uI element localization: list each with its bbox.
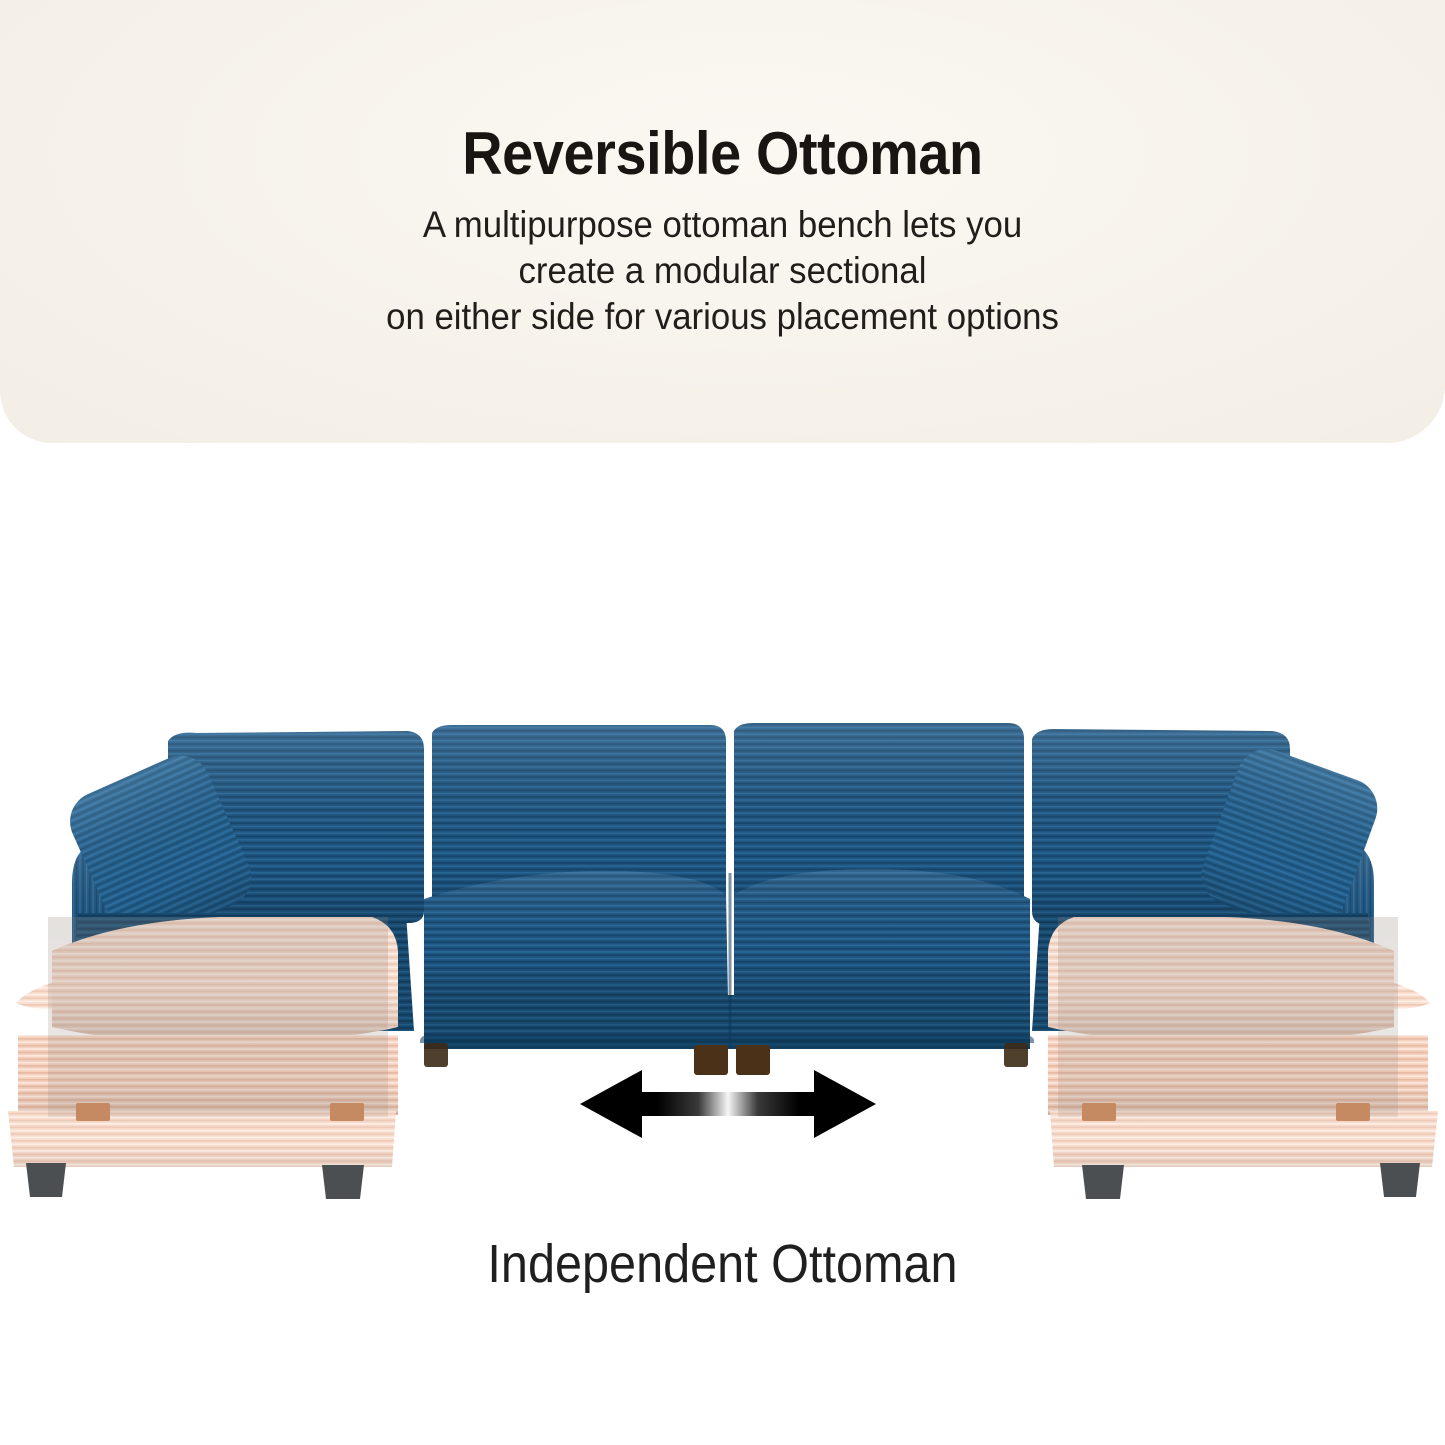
- page-title: Reversible Ottoman: [51, 124, 1395, 184]
- product-caption: Independent Ottoman: [72, 1235, 1373, 1294]
- subtitle-line-2: create a modular sectional: [43, 248, 1401, 294]
- left-ottoman: [8, 917, 398, 1199]
- left-ottoman-wood-trim-1: [76, 1103, 110, 1121]
- left-ottoman-wood-trim-2: [330, 1103, 364, 1121]
- right-ottoman-wood-trim-2: [1336, 1103, 1370, 1121]
- header-panel: Reversible Ottoman A multipurpose ottoma…: [0, 0, 1445, 443]
- right-ottoman: [1048, 917, 1438, 1199]
- sofa-seat-cushions: [424, 869, 1030, 1015]
- right-ottoman-wood-trim-1: [1082, 1103, 1116, 1121]
- left-ottoman-foot-2: [322, 1165, 364, 1199]
- sofa-leg-outer-left: [424, 1043, 448, 1067]
- right-ottoman-foot-1: [1082, 1165, 1124, 1199]
- right-ottoman-foot-2: [1380, 1163, 1420, 1197]
- reversible-direction-arrow-icon: [580, 1066, 876, 1142]
- right-ottoman-overlap-veil: [1058, 917, 1398, 1117]
- sofa-leg-outer-right: [1004, 1043, 1028, 1067]
- subtitle-line-3: on either side for various placement opt…: [43, 294, 1401, 340]
- left-ottoman-overlap-veil: [48, 917, 388, 1117]
- subtitle-line-1: A multipurpose ottoman bench lets you: [43, 202, 1401, 248]
- left-ottoman-foot-1: [26, 1163, 66, 1197]
- header-subtitle: A multipurpose ottoman bench lets you cr…: [43, 202, 1401, 340]
